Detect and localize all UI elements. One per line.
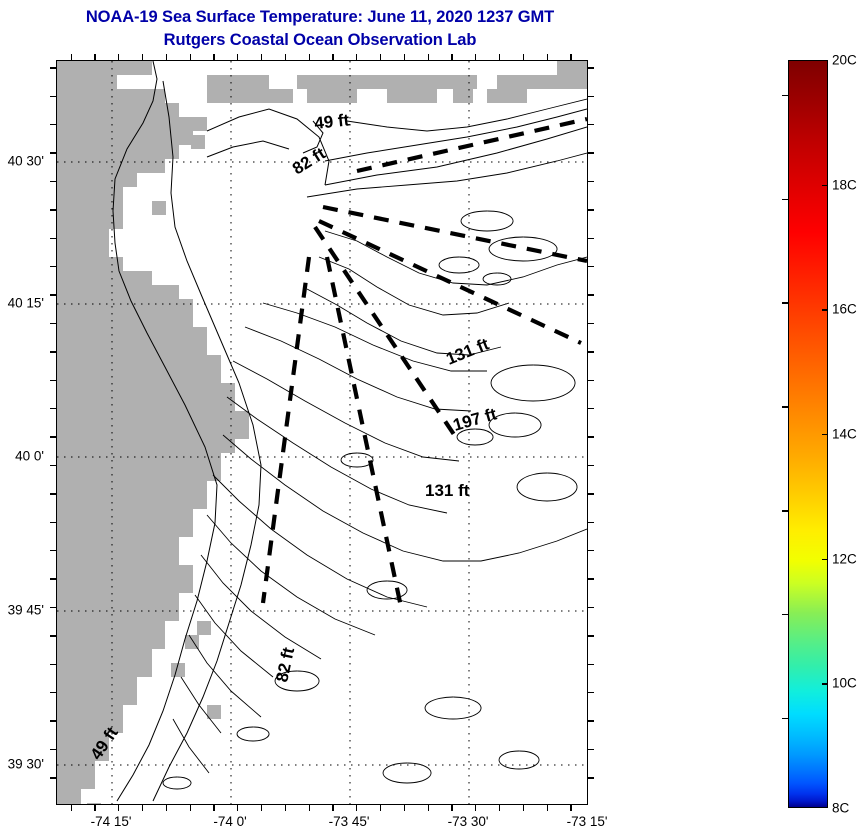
x-axis-tick bbox=[451, 54, 452, 60]
y-axis-tick bbox=[588, 238, 594, 239]
y-axis-label: 40 30' bbox=[8, 154, 44, 169]
y-axis-tick bbox=[50, 465, 56, 466]
x-axis-tick bbox=[190, 54, 191, 60]
y-axis-tick bbox=[588, 181, 594, 182]
x-axis-tick bbox=[523, 805, 524, 811]
x-axis-tick bbox=[404, 805, 405, 811]
y-axis-tick bbox=[50, 294, 56, 295]
y-axis-tick bbox=[50, 96, 56, 97]
colorbar-label-celsius: 16C bbox=[832, 302, 857, 317]
map-clip: 49 ft 82 ft 131 ft 197 ft 131 ft 82 ft 4… bbox=[57, 61, 587, 804]
colorbar-tick-fahrenheit bbox=[782, 614, 789, 615]
x-axis-tick bbox=[404, 54, 405, 60]
y-axis-tick bbox=[50, 124, 56, 125]
y-axis-tick bbox=[588, 635, 594, 636]
y-axis-tick bbox=[50, 436, 56, 437]
x-axis-tick bbox=[451, 805, 452, 811]
x-axis-tick bbox=[570, 805, 571, 811]
x-axis-tick bbox=[166, 805, 167, 811]
x-axis-label: -74 0' bbox=[213, 814, 246, 829]
x-axis-tick bbox=[237, 805, 238, 811]
y-axis-tick bbox=[588, 351, 594, 352]
y-axis-tick bbox=[588, 720, 594, 721]
y-axis-tick bbox=[50, 67, 56, 68]
x-axis-tick bbox=[332, 54, 333, 60]
colorbar-tick-fahrenheit bbox=[782, 302, 789, 303]
y-axis-tick bbox=[588, 124, 594, 125]
depth-label-131ft-upper: 131 ft bbox=[443, 334, 492, 368]
y-axis-tick bbox=[588, 749, 594, 750]
transect-line-3 bbox=[319, 221, 581, 343]
y-axis-tick bbox=[588, 692, 594, 693]
y-axis-tick bbox=[588, 96, 594, 97]
x-axis-label: -74 15' bbox=[91, 814, 132, 829]
y-axis-tick bbox=[588, 465, 594, 466]
x-axis-tick bbox=[71, 54, 72, 60]
transect-lines bbox=[263, 119, 587, 607]
y-axis-tick bbox=[588, 493, 594, 494]
x-axis-tick bbox=[547, 805, 548, 811]
x-axis-tick bbox=[332, 805, 333, 811]
x-axis-tick bbox=[499, 805, 500, 811]
y-axis-tick bbox=[50, 493, 56, 494]
x-axis-tick bbox=[309, 805, 310, 811]
y-axis-tick bbox=[588, 266, 594, 267]
x-axis-label: -73 15' bbox=[567, 814, 608, 829]
x-axis-tick bbox=[356, 54, 357, 60]
y-axis-tick bbox=[50, 550, 56, 551]
x-axis-tick bbox=[213, 805, 214, 811]
x-axis-tick bbox=[499, 54, 500, 60]
y-axis-tick bbox=[50, 522, 56, 523]
colorbar-tick-celsius bbox=[822, 559, 828, 560]
y-axis-tick bbox=[588, 607, 594, 608]
title-line-2: Rutgers Coastal Ocean Observation Lab bbox=[0, 29, 640, 52]
x-axis-tick bbox=[71, 805, 72, 811]
colorbar-tick-fahrenheit bbox=[782, 718, 789, 719]
y-axis-tick bbox=[588, 408, 594, 409]
colorbar-tick-celsius bbox=[822, 683, 828, 684]
x-axis-tick bbox=[142, 54, 143, 60]
y-axis-tick bbox=[588, 209, 594, 210]
colorbar-label-celsius: 20C bbox=[832, 53, 857, 68]
x-axis-tick bbox=[190, 805, 191, 811]
y-axis-tick bbox=[50, 664, 56, 665]
colorbar-tick-celsius bbox=[822, 434, 828, 435]
colorbar-label-celsius: 14C bbox=[832, 427, 857, 442]
x-axis-tick bbox=[380, 54, 381, 60]
y-axis-label: 40 0' bbox=[15, 449, 44, 464]
colorbar-label-celsius: 8C bbox=[832, 801, 849, 816]
x-axis-label: -73 45' bbox=[329, 814, 370, 829]
transect-line-1 bbox=[357, 119, 587, 171]
colorbar-tick-fahrenheit bbox=[782, 95, 789, 96]
x-axis-tick bbox=[94, 54, 95, 60]
y-axis-tick bbox=[50, 777, 56, 778]
x-axis-tick bbox=[237, 54, 238, 60]
transect-line-2 bbox=[323, 207, 587, 261]
y-axis-label: 40 15' bbox=[8, 296, 44, 311]
x-axis-tick bbox=[547, 54, 548, 60]
colorbar-tick-fahrenheit bbox=[782, 510, 789, 511]
title-line-1: NOAA-19 Sea Surface Temperature: June 11… bbox=[0, 6, 640, 29]
y-axis-tick bbox=[50, 238, 56, 239]
y-axis-tick bbox=[50, 351, 56, 352]
y-axis-tick bbox=[588, 522, 594, 523]
x-axis-tick bbox=[142, 805, 143, 811]
colorbar-label-celsius: 12C bbox=[832, 551, 857, 566]
y-axis-tick bbox=[588, 777, 594, 778]
colorbar-tick-celsius bbox=[822, 185, 828, 186]
x-axis-tick bbox=[285, 54, 286, 60]
x-axis-tick bbox=[428, 805, 429, 811]
y-axis-tick bbox=[50, 720, 56, 721]
y-axis-tick bbox=[50, 578, 56, 579]
y-axis-tick bbox=[50, 635, 56, 636]
x-axis-tick bbox=[475, 54, 476, 60]
x-axis-tick bbox=[118, 805, 119, 811]
x-axis-tick bbox=[570, 54, 571, 60]
y-axis-tick bbox=[588, 664, 594, 665]
x-axis-tick bbox=[523, 54, 524, 60]
depth-label-82ft-south: 82 ft bbox=[272, 645, 298, 683]
x-axis-tick bbox=[309, 54, 310, 60]
y-axis-tick bbox=[588, 152, 594, 153]
y-axis-tick bbox=[50, 152, 56, 153]
x-axis-tick bbox=[285, 805, 286, 811]
y-axis-tick bbox=[50, 380, 56, 381]
y-axis-tick bbox=[50, 749, 56, 750]
x-axis-tick bbox=[380, 805, 381, 811]
x-axis-tick bbox=[428, 54, 429, 60]
y-axis-tick bbox=[588, 67, 594, 68]
y-axis-tick bbox=[50, 266, 56, 267]
y-axis-label: 39 30' bbox=[8, 757, 44, 772]
x-axis-tick bbox=[261, 805, 262, 811]
y-axis-label: 39 45' bbox=[8, 603, 44, 618]
x-axis-tick bbox=[261, 54, 262, 60]
y-axis-tick bbox=[588, 380, 594, 381]
y-axis-tick bbox=[588, 436, 594, 437]
y-axis-tick bbox=[588, 323, 594, 324]
y-axis-tick bbox=[588, 550, 594, 551]
y-axis-tick bbox=[50, 408, 56, 409]
colorbar-tick-celsius bbox=[822, 309, 828, 310]
colorbar-label-celsius: 10C bbox=[832, 676, 857, 691]
depth-label-49ft-north: 49 ft bbox=[313, 110, 350, 133]
x-axis-tick bbox=[166, 54, 167, 60]
y-axis-tick bbox=[50, 209, 56, 210]
colorbar-label-celsius: 18C bbox=[832, 177, 857, 192]
y-axis-tick bbox=[588, 578, 594, 579]
page-title: NOAA-19 Sea Surface Temperature: June 11… bbox=[0, 6, 640, 52]
x-axis-tick bbox=[356, 805, 357, 811]
y-axis-tick bbox=[50, 323, 56, 324]
x-axis-tick bbox=[94, 805, 95, 811]
depth-label-82ft-north: 82 ft bbox=[289, 144, 329, 179]
x-axis-tick bbox=[475, 805, 476, 811]
x-axis-tick bbox=[213, 54, 214, 60]
colorbar-tick-fahrenheit bbox=[782, 199, 789, 200]
y-axis-tick bbox=[50, 181, 56, 182]
colorbar-tick-fahrenheit bbox=[782, 406, 789, 407]
depth-label-131ft-lower: 131 ft bbox=[425, 481, 470, 500]
x-axis-tick bbox=[118, 54, 119, 60]
y-axis-tick bbox=[50, 692, 56, 693]
sst-map[interactable]: 49 ft 82 ft 131 ft 197 ft 131 ft 82 ft 4… bbox=[56, 60, 588, 805]
y-axis-tick bbox=[50, 607, 56, 608]
y-axis-tick bbox=[588, 294, 594, 295]
map-graphics: 49 ft 82 ft 131 ft 197 ft 131 ft 82 ft 4… bbox=[57, 61, 587, 804]
x-axis-label: -73 30' bbox=[448, 814, 489, 829]
